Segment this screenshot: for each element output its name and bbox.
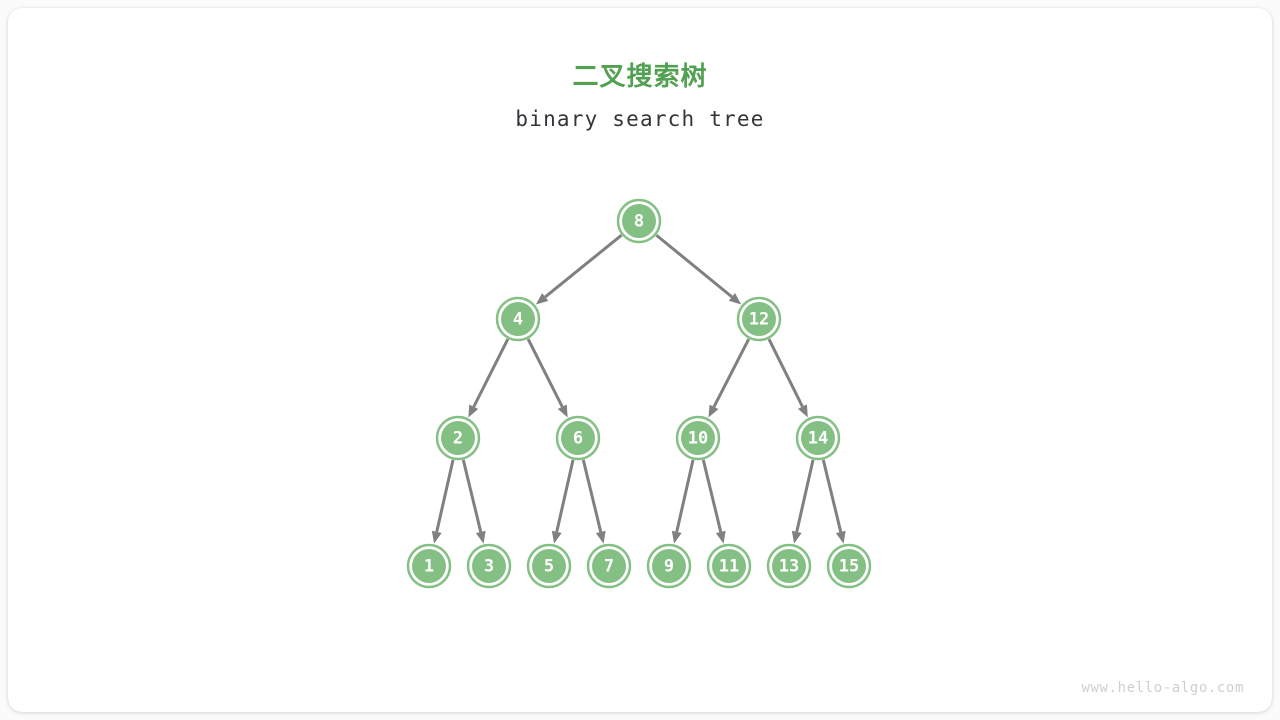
edge-line — [677, 460, 693, 532]
node-value-label: 15 — [839, 557, 859, 577]
edge-line — [583, 460, 600, 532]
tree-node[interactable]: 7 — [588, 545, 630, 587]
tree-edge — [528, 339, 568, 417]
tree-edge — [769, 339, 808, 417]
tree-edge — [552, 460, 573, 544]
tree-edge — [432, 460, 453, 544]
edge-line — [769, 339, 802, 406]
tree-node[interactable]: 1 — [408, 545, 450, 587]
tree-node[interactable]: 12 — [738, 298, 780, 340]
edge-line — [545, 235, 621, 297]
edge-line — [437, 460, 453, 532]
diagram-card: 二叉搜索树 binary search tree 841226101413579… — [8, 8, 1272, 712]
node-value-label: 14 — [808, 429, 828, 449]
node-value-label: 6 — [573, 429, 583, 449]
binary-search-tree-diagram: 841226101413579111315 — [8, 8, 1272, 712]
tree-edge — [708, 339, 748, 418]
tree-node[interactable]: 2 — [437, 417, 479, 459]
tree-node[interactable]: 6 — [557, 417, 599, 459]
node-value-label: 3 — [484, 557, 494, 577]
tree-edge — [656, 235, 741, 304]
tree-edge — [536, 235, 622, 304]
node-value-label: 13 — [779, 557, 799, 577]
tree-edge — [823, 460, 845, 544]
tree-edges — [432, 235, 846, 543]
tree-node[interactable]: 4 — [497, 298, 539, 340]
tree-node[interactable]: 8 — [618, 200, 660, 242]
edge-arrowhead-icon — [672, 531, 682, 544]
tree-node[interactable]: 13 — [768, 545, 810, 587]
tree-edge — [672, 460, 693, 544]
tree-edge — [463, 460, 485, 544]
edge-line — [463, 460, 480, 532]
tree-node[interactable]: 9 — [648, 545, 690, 587]
node-value-label: 4 — [513, 310, 523, 330]
tree-nodes: 841226101413579111315 — [408, 200, 870, 587]
tree-edge — [703, 460, 725, 544]
node-value-label: 5 — [544, 557, 554, 577]
tree-edge — [583, 460, 605, 544]
edge-arrowhead-icon — [476, 531, 486, 544]
edge-arrowhead-icon — [716, 531, 726, 544]
edge-line — [714, 339, 749, 407]
node-value-label: 1 — [424, 557, 434, 577]
tree-edge — [792, 460, 813, 544]
tree-node[interactable]: 10 — [677, 417, 719, 459]
edge-line — [656, 235, 731, 297]
edge-arrowhead-icon — [552, 531, 562, 544]
node-value-label: 8 — [634, 212, 644, 232]
tree-node[interactable]: 3 — [468, 545, 510, 587]
node-value-label: 2 — [453, 429, 463, 449]
node-value-label: 11 — [719, 557, 739, 577]
tree-node[interactable]: 14 — [797, 417, 839, 459]
edge-line — [528, 339, 562, 407]
node-value-label: 10 — [688, 429, 708, 449]
edge-arrowhead-icon — [432, 531, 442, 544]
tree-node[interactable]: 15 — [828, 545, 870, 587]
edge-line — [557, 460, 573, 532]
site-watermark: www.hello-algo.com — [1081, 680, 1244, 696]
edge-arrowhead-icon — [596, 531, 606, 544]
edge-line — [797, 460, 813, 532]
node-value-label: 7 — [604, 557, 614, 577]
tree-node[interactable]: 5 — [528, 545, 570, 587]
edge-line — [703, 460, 720, 532]
tree-node[interactable]: 11 — [708, 545, 750, 587]
edge-line — [474, 339, 508, 407]
node-value-label: 12 — [749, 310, 769, 330]
edge-line — [823, 460, 840, 532]
tree-edge — [468, 339, 508, 417]
node-value-label: 9 — [664, 557, 674, 577]
edge-arrowhead-icon — [792, 531, 802, 544]
edge-arrowhead-icon — [836, 531, 846, 544]
